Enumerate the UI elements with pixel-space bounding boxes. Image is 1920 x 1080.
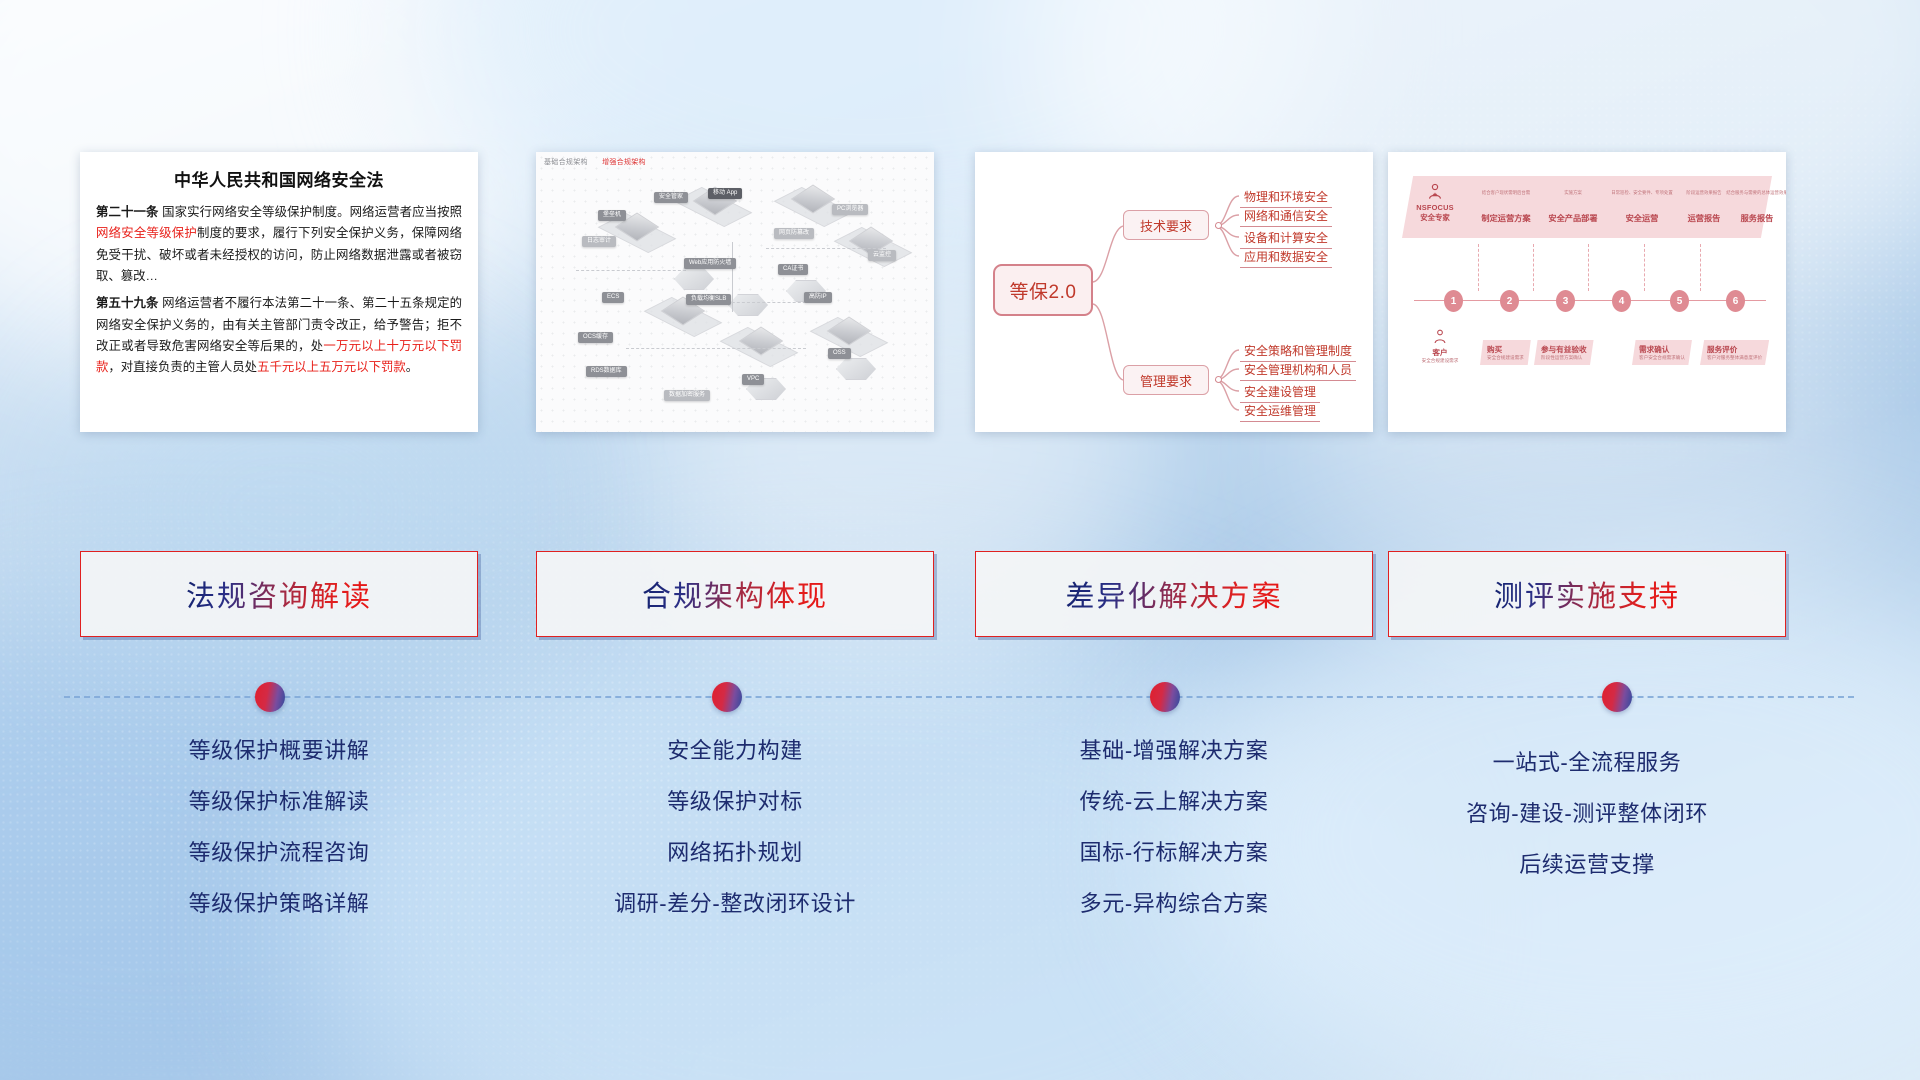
flow-stem-1 xyxy=(1478,244,1479,291)
arch-connector-1 xyxy=(576,270,686,271)
nsfocus-logo-sub: 安全专家 xyxy=(1412,212,1458,223)
timeline-marker-3[interactable] xyxy=(1150,682,1180,712)
feature-item: 等级保护概要讲解 xyxy=(80,740,478,762)
law-article-59: 第五十九条 网络运营者不履行本法第二十一条、第二十五条规定的网络安全保护义务的，… xyxy=(96,293,462,378)
arch-chip-6: CA证书 xyxy=(778,264,808,275)
mindmap-leaf-t3: 设备和计算安全 xyxy=(1240,229,1332,249)
mindmap-collapse-icon-management[interactable] xyxy=(1215,376,1222,383)
arch-chip-5: Web应用防火墙 xyxy=(684,258,736,269)
arch-chip-7: 高防IP xyxy=(804,292,832,303)
flow-stem-3 xyxy=(1588,244,1589,291)
headline-label-2: 合规架构体现 xyxy=(642,573,828,615)
card-architecture-screenshot: 基础合规架构 增强合规架构 xyxy=(536,152,934,432)
customer-person-icon xyxy=(1431,328,1449,346)
feature-list-1: 等级保护概要讲解 等级保护标准解读 等级保护流程咨询 等级保护策略详解 xyxy=(80,740,478,944)
feature-list-4: 一站式-全流程服务 咨询-建设-测评整体闭环 后续运营支撑 xyxy=(1388,752,1786,905)
arch-chip-12: OCS缓存 xyxy=(578,332,613,343)
flow-bottom-tag-1: 购买 安全合规建设需求 xyxy=(1480,340,1531,365)
flow-stage-label-4: 运营报告 xyxy=(1674,212,1734,224)
law-title: 中华人民共和国网络安全法 xyxy=(96,166,462,191)
flow-bottom-tag-4-label: 服务评价 xyxy=(1707,345,1737,354)
headline-box-1[interactable]: 法规咨询解读 xyxy=(80,551,478,637)
architecture-tabs: 基础合规架构 增强合规架构 xyxy=(544,157,658,167)
headline-label-1: 法规咨询解读 xyxy=(186,573,372,615)
card-mindmap-screenshot: 等保2.0 技术要求 物理和环境安全 网络和通信安全 设备和计算安全 应用和数据… xyxy=(975,152,1373,432)
feature-item: 一站式-全流程服务 xyxy=(1388,752,1786,774)
arch-chip-4: 网页防篡改 xyxy=(774,228,814,239)
flow-stem-2 xyxy=(1533,244,1534,291)
flow-bottom-tag-2-label: 参与有益验收 xyxy=(1541,345,1587,354)
feature-item: 国标-行标解决方案 xyxy=(975,842,1373,864)
flow-stem-4 xyxy=(1644,244,1645,291)
nsfocus-logo: NSFOCUS 安全专家 xyxy=(1412,182,1458,223)
flow-customer: 客户 安全合规建设需求 xyxy=(1414,328,1466,364)
mindmap-collapse-icon-technical[interactable] xyxy=(1215,222,1222,229)
service-flow-diagram: NSFOCUS 安全专家 结合客户现状需明后台需 制定运营方案 实施方案 安全产… xyxy=(1388,152,1786,432)
flow-timeline-axis xyxy=(1414,300,1766,301)
expert-person-icon xyxy=(1425,182,1445,202)
headline-label-3: 差异化解决方案 xyxy=(1065,573,1282,615)
law-document: 中华人民共和国网络安全法 第二十一条 国家实行网络安全等级保护制度。网络运营者应… xyxy=(80,152,478,395)
mindmap-branch-management: 管理要求 xyxy=(1123,365,1209,395)
flow-stage-label-1: 制定运营方案 xyxy=(1468,212,1544,224)
mindmap-leaf-t2: 网络和通信安全 xyxy=(1240,207,1332,227)
card-service-flow-screenshot: NSFOCUS 安全专家 结合客户现状需明后台需 制定运营方案 实施方案 安全产… xyxy=(1388,152,1786,432)
flow-stage-label-2: 安全产品部署 xyxy=(1540,212,1606,224)
flow-bottom-tag-3-sub: 客户安全合规需求确认 xyxy=(1639,355,1685,361)
feature-item: 多元-异构综合方案 xyxy=(975,893,1373,915)
headline-box-2[interactable]: 合规架构体现 xyxy=(536,551,934,637)
arch-chip-8: PC浏览器 xyxy=(832,204,868,215)
feature-item: 安全能力构建 xyxy=(536,740,934,762)
mindmap-leaf-m2: 安全管理机构和人员 xyxy=(1240,361,1356,381)
flow-customer-sub: 安全合规建设需求 xyxy=(1414,358,1466,364)
law-article-21-pre: 国家实行网络安全等级保护制度。网络运营者应当按照 xyxy=(159,205,462,219)
feature-item: 调研-差分-整改闭环设计 xyxy=(536,893,934,915)
arch-chip-14: OSS xyxy=(828,348,851,359)
feature-item: 网络拓扑规划 xyxy=(536,842,934,864)
tab-basic-compliance[interactable]: 基础合规架构 xyxy=(544,159,588,166)
flow-stage-sub-3: 日常巡检、安全要件、专项处置 xyxy=(1602,190,1682,196)
flow-step-1: 1 xyxy=(1444,290,1463,312)
feature-item: 咨询-建设-测评整体闭环 xyxy=(1388,803,1786,825)
mindmap-leaf-t1: 物理和环境安全 xyxy=(1240,188,1332,208)
mindmap-leaf-t4: 应用和数据安全 xyxy=(1240,248,1332,268)
arch-chip-16: 数据加密服务 xyxy=(664,390,710,401)
timeline-marker-1[interactable] xyxy=(255,682,285,712)
nsfocus-logo-name: NSFOCUS xyxy=(1412,203,1458,212)
feature-list-3: 基础-增强解决方案 传统-云上解决方案 国标-行标解决方案 多元-异构综合方案 xyxy=(975,740,1373,944)
arch-connector-4 xyxy=(626,348,806,349)
flow-stage-label-5: 服务报告 xyxy=(1728,212,1786,224)
arch-chip-3: 日志审计 xyxy=(582,236,616,247)
mindmap-branch-technical: 技术要求 xyxy=(1123,210,1209,240)
flow-step-5: 5 xyxy=(1670,290,1689,312)
mindmap-root-node: 等保2.0 xyxy=(993,264,1093,316)
flow-bottom-tag-1-label: 购买 xyxy=(1487,345,1502,354)
flow-bottom-tag-2-sub: 阶段性运营方案确认 xyxy=(1541,355,1587,361)
arch-connector-5 xyxy=(732,242,733,312)
mindmap-leaf-m1: 安全策略和管理制度 xyxy=(1240,342,1356,362)
headline-label-4: 测评实施支持 xyxy=(1494,573,1680,615)
flow-step-4: 4 xyxy=(1612,290,1631,312)
law-article-59-highlight-2: 五千元以上五万元以下罚款 xyxy=(257,360,406,374)
flow-stage-label-3: 安全运营 xyxy=(1610,212,1674,224)
feature-item: 等级保护策略详解 xyxy=(80,893,478,915)
mindmap-diagram: 等保2.0 技术要求 物理和环境安全 网络和通信安全 设备和计算安全 应用和数据… xyxy=(975,152,1373,432)
architecture-diagram: 基础合规架构 增强合规架构 xyxy=(536,152,934,432)
mindmap-leaf-m3: 安全建设管理 xyxy=(1240,383,1320,403)
feature-item: 后续运营支撑 xyxy=(1388,854,1786,876)
law-article-59-mid: ，对直接负责的主管人员处 xyxy=(108,360,257,374)
feature-item: 传统-云上解决方案 xyxy=(975,791,1373,813)
flow-bottom-tag-2: 参与有益验收 阶段性运营方案确认 xyxy=(1534,340,1594,365)
arch-chip-0: 移动 App xyxy=(708,188,742,199)
law-article-21: 第二十一条 国家实行网络安全等级保护制度。网络运营者应当按照网络安全等级保护制度… xyxy=(96,202,462,287)
feature-item: 等级保护标准解读 xyxy=(80,791,478,813)
flow-bottom-tag-3: 需求确认 客户安全合规需求确认 xyxy=(1632,340,1692,365)
law-article-59-label: 第五十九条 xyxy=(96,296,159,310)
feature-item: 基础-增强解决方案 xyxy=(975,740,1373,762)
flow-bottom-tag-3-label: 需求确认 xyxy=(1639,345,1669,354)
flow-stem-5 xyxy=(1700,244,1701,291)
timeline-marker-4[interactable] xyxy=(1602,682,1632,712)
mindmap-leaf-m4: 安全运维管理 xyxy=(1240,402,1320,422)
arch-connector-3 xyxy=(766,248,886,249)
timeline-dashed-line xyxy=(64,696,1854,698)
law-article-21-highlight: 网络安全等级保护 xyxy=(96,226,197,240)
timeline-marker-2[interactable] xyxy=(712,682,742,712)
law-article-59-end: 。 xyxy=(406,360,418,374)
arch-chip-13: RDS数据库 xyxy=(586,366,627,377)
card-law-screenshot: 中华人民共和国网络安全法 第二十一条 国家实行网络安全等级保护制度。网络运营者应… xyxy=(80,152,478,432)
flow-stage-sub-5: 结合服务与需要的总体运营效果 xyxy=(1724,190,1786,196)
arch-chip-1: 堡垒机 xyxy=(598,210,626,221)
flow-customer-label: 客户 xyxy=(1414,347,1466,358)
feature-item: 等级保护流程咨询 xyxy=(80,842,478,864)
headline-box-3[interactable]: 差异化解决方案 xyxy=(975,551,1373,637)
headline-box-4[interactable]: 测评实施支持 xyxy=(1388,551,1786,637)
flow-bottom-tag-4-sub: 客户对服务整体满意度评价 xyxy=(1707,355,1762,361)
arch-chip-15: VPC xyxy=(742,374,764,385)
tab-enhanced-compliance[interactable]: 增强合规架构 xyxy=(602,159,646,166)
flow-step-6: 6 xyxy=(1726,290,1745,312)
flow-stage-sub-1: 结合客户现状需明后台需 xyxy=(1468,190,1544,196)
law-article-21-label: 第二十一条 xyxy=(96,205,159,219)
feature-item: 等级保护对标 xyxy=(536,791,934,813)
flow-step-2: 2 xyxy=(1500,290,1519,312)
arch-chip-10: ECS xyxy=(602,292,624,303)
flow-bottom-tag-4: 服务评价 客户对服务整体满意度评价 xyxy=(1700,340,1769,365)
arch-chip-9: 云监控 xyxy=(868,250,896,261)
arch-chip-11: 负载均衡SLB xyxy=(686,294,731,305)
flow-bottom-tag-1-sub: 安全合规建设需求 xyxy=(1487,355,1524,361)
flow-step-3: 3 xyxy=(1556,290,1575,312)
arch-chip-2: 安全管家 xyxy=(654,192,688,203)
flow-stage-sub-2: 实施方案 xyxy=(1542,190,1604,196)
feature-list-2: 安全能力构建 等级保护对标 网络拓扑规划 调研-差分-整改闭环设计 xyxy=(536,740,934,944)
